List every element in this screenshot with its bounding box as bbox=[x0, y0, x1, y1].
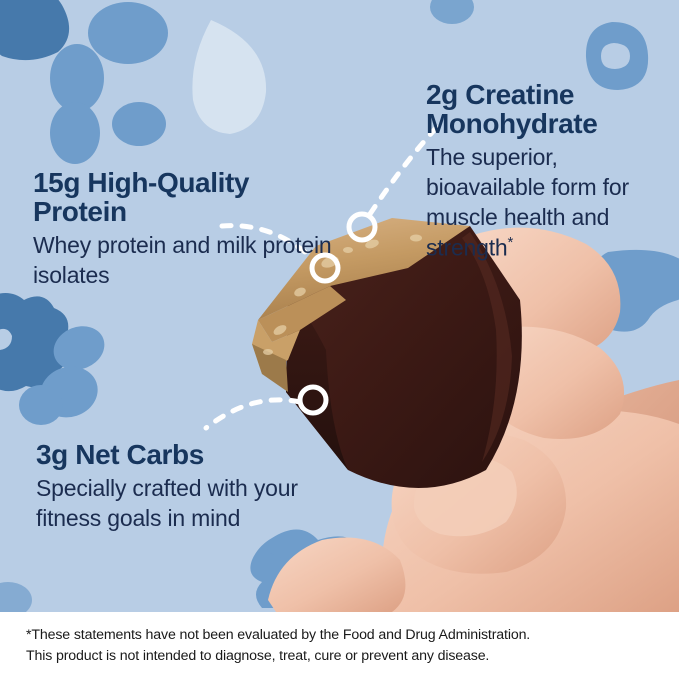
callout-protein-description: Whey protein and milk protein isolates bbox=[33, 231, 333, 290]
callout-protein-title: 15g High-Quality Protein bbox=[33, 168, 333, 226]
callout-creatine-description-text: The superior, bioavailable form for musc… bbox=[426, 144, 629, 260]
callout-carbs-title: 3g Net Carbs bbox=[36, 440, 356, 469]
callout-creatine: 2g Creatine Monohydrate The superior, bi… bbox=[426, 80, 672, 263]
callout-carbs-description: Specially crafted with your fitness goal… bbox=[36, 474, 356, 533]
finger-lower bbox=[268, 538, 405, 613]
callout-carbs: 3g Net Carbs Specially crafted with your… bbox=[36, 440, 356, 533]
callout-protein: 15g High-Quality Protein Whey protein an… bbox=[33, 168, 333, 290]
product-infographic: 15g High-Quality Protein Whey protein an… bbox=[0, 0, 679, 679]
callout-creatine-title: 2g Creatine Monohydrate bbox=[426, 80, 672, 138]
disclaimer-line-2: This product is not intended to diagnose… bbox=[26, 646, 653, 667]
callout-creatine-description: The superior, bioavailable form for musc… bbox=[426, 143, 672, 263]
disclaimer-line-1: *These statements have not been evaluate… bbox=[26, 625, 653, 646]
callout-creatine-asterisk: * bbox=[508, 234, 514, 251]
disclaimer-footer: *These statements have not been evaluate… bbox=[0, 612, 679, 679]
